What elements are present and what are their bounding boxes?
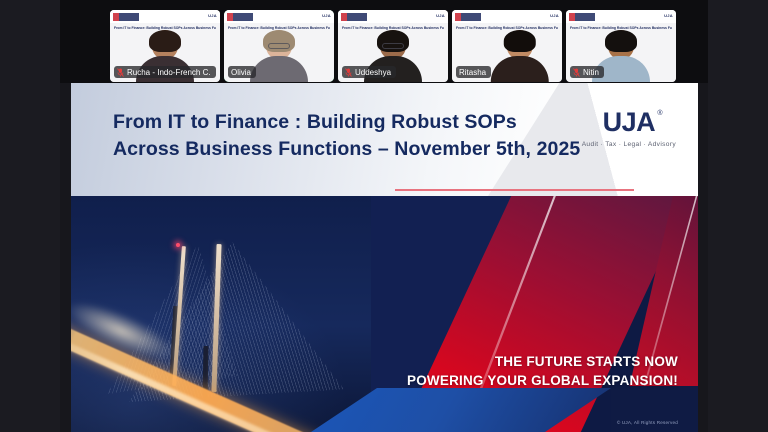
uja-logo-icon bbox=[569, 13, 595, 21]
glasses-icon bbox=[268, 43, 290, 49]
uja-logo-icon bbox=[455, 13, 481, 21]
glasses-icon bbox=[382, 43, 404, 49]
participant-tile-uddeshya[interactable]: UJA From IT to Finance: Building Robust … bbox=[338, 10, 448, 82]
hero-tagline-line-1: THE FUTURE STARTS NOW bbox=[407, 352, 678, 371]
tile-brand-label: UJA bbox=[322, 13, 331, 18]
participant-tile-ritasha[interactable]: UJA From IT to Finance: Building Robust … bbox=[452, 10, 562, 82]
copyright-notice: © UJA, All Rights Reserved bbox=[617, 420, 678, 425]
shape-navy-footer bbox=[611, 386, 698, 432]
name-badge: Olivia bbox=[228, 66, 256, 78]
muted-mic-icon bbox=[345, 68, 352, 77]
muted-mic-icon bbox=[573, 68, 580, 77]
hero-tagline-line-2: POWERING YOUR GLOBAL EXPANSION! bbox=[407, 371, 678, 390]
hero-tagline: THE FUTURE STARTS NOW POWERING YOUR GLOB… bbox=[407, 352, 678, 390]
tile-brand-label: UJA bbox=[550, 13, 559, 18]
meeting-backdrop-left bbox=[0, 0, 60, 432]
uja-brand-logo: UJA® Audit · Tax · Legal · Advisory bbox=[582, 109, 676, 148]
uja-logo-icon bbox=[341, 13, 367, 21]
participant-filmstrip: UJA From IT to Finance: Building Robust … bbox=[110, 10, 676, 82]
muted-mic-icon bbox=[117, 68, 124, 77]
name-badge: Rucha - Indo-French C. bbox=[114, 66, 216, 78]
participant-name: Rucha - Indo-French C. bbox=[127, 68, 211, 77]
uja-logo-icon bbox=[227, 13, 253, 21]
uja-wordmark-text: UJA bbox=[603, 107, 656, 137]
shared-screen-slide[interactable]: From IT to Finance : Building Robust SOP… bbox=[71, 83, 698, 432]
slide-hero: THE FUTURE STARTS NOW POWERING YOUR GLOB… bbox=[71, 196, 698, 432]
night-bridge-photo bbox=[71, 196, 409, 432]
participant-name: Uddeshya bbox=[355, 68, 391, 77]
slide-title-line-2: Across Business Functions – November 5th… bbox=[113, 136, 580, 163]
pylon-beacon-light-icon bbox=[176, 243, 180, 247]
slide-title-line-1: From IT to Finance : Building Robust SOP… bbox=[113, 109, 580, 136]
participant-tile-rucha[interactable]: UJA From IT to Finance: Building Robust … bbox=[110, 10, 220, 82]
page-title: From IT to Finance : Building Robust SOP… bbox=[113, 109, 580, 163]
screen: UJA From IT to Finance: Building Robust … bbox=[0, 0, 768, 432]
title-underline-rule bbox=[395, 189, 634, 191]
participant-name: Nitin bbox=[583, 68, 599, 77]
tile-brand-label: UJA bbox=[436, 13, 445, 18]
tile-brand-label: UJA bbox=[208, 13, 217, 18]
name-badge: Ritasha bbox=[456, 66, 491, 78]
uja-logo-icon bbox=[113, 13, 139, 21]
tile-brand-label: UJA bbox=[664, 13, 673, 18]
participant-tile-olivia[interactable]: UJA From IT to Finance: Building Robust … bbox=[224, 10, 334, 82]
registered-mark-icon: ® bbox=[657, 110, 662, 117]
name-badge: Nitin bbox=[570, 66, 604, 78]
participant-name: Olivia bbox=[231, 68, 251, 77]
name-badge: Uddeshya bbox=[342, 66, 396, 78]
avatar bbox=[491, 30, 549, 82]
meeting-backdrop-right bbox=[708, 0, 768, 432]
avatar bbox=[250, 30, 308, 82]
uja-tagline: Audit · Tax · Legal · Advisory bbox=[582, 141, 676, 148]
participant-tile-nitin[interactable]: UJA From IT to Finance: Building Robust … bbox=[566, 10, 676, 82]
uja-wordmark: UJA® bbox=[603, 109, 656, 136]
participant-name: Ritasha bbox=[459, 68, 486, 77]
